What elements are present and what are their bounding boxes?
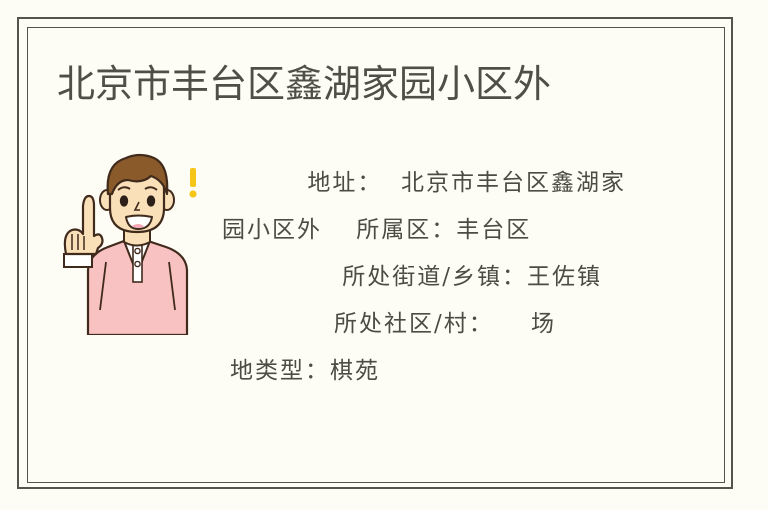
- detail-line-community-village: 所处社区/村： 场: [200, 301, 630, 348]
- eye-right: [147, 195, 155, 206]
- shirt-cuff: [64, 254, 92, 267]
- exclamation-dot: [189, 190, 196, 197]
- exclamation-stem: [190, 168, 196, 187]
- exclamation-mark-icon: [186, 168, 200, 198]
- page-container: 北京市丰台区鑫湖家园小区外: [0, 0, 768, 510]
- detail-line-street-township: 所处街道/乡镇：王佐镇: [200, 254, 630, 301]
- detail-line-address-1: 地址： 北京市丰台区鑫湖家: [200, 160, 630, 207]
- shirt-button-bottom: [135, 261, 140, 266]
- eye-left: [120, 195, 128, 206]
- detail-line-land-type: 地类型：棋苑: [200, 348, 630, 395]
- location-details-block: 地址： 北京市丰台区鑫湖家 园小区外 所属区：丰台区 所处街道/乡镇：王佐镇 所…: [200, 160, 630, 395]
- page-title: 北京市丰台区鑫湖家园小区外: [57, 62, 551, 108]
- detail-line-address-2-district: 园小区外 所属区：丰台区: [200, 207, 630, 254]
- shirt-button-top: [135, 248, 140, 253]
